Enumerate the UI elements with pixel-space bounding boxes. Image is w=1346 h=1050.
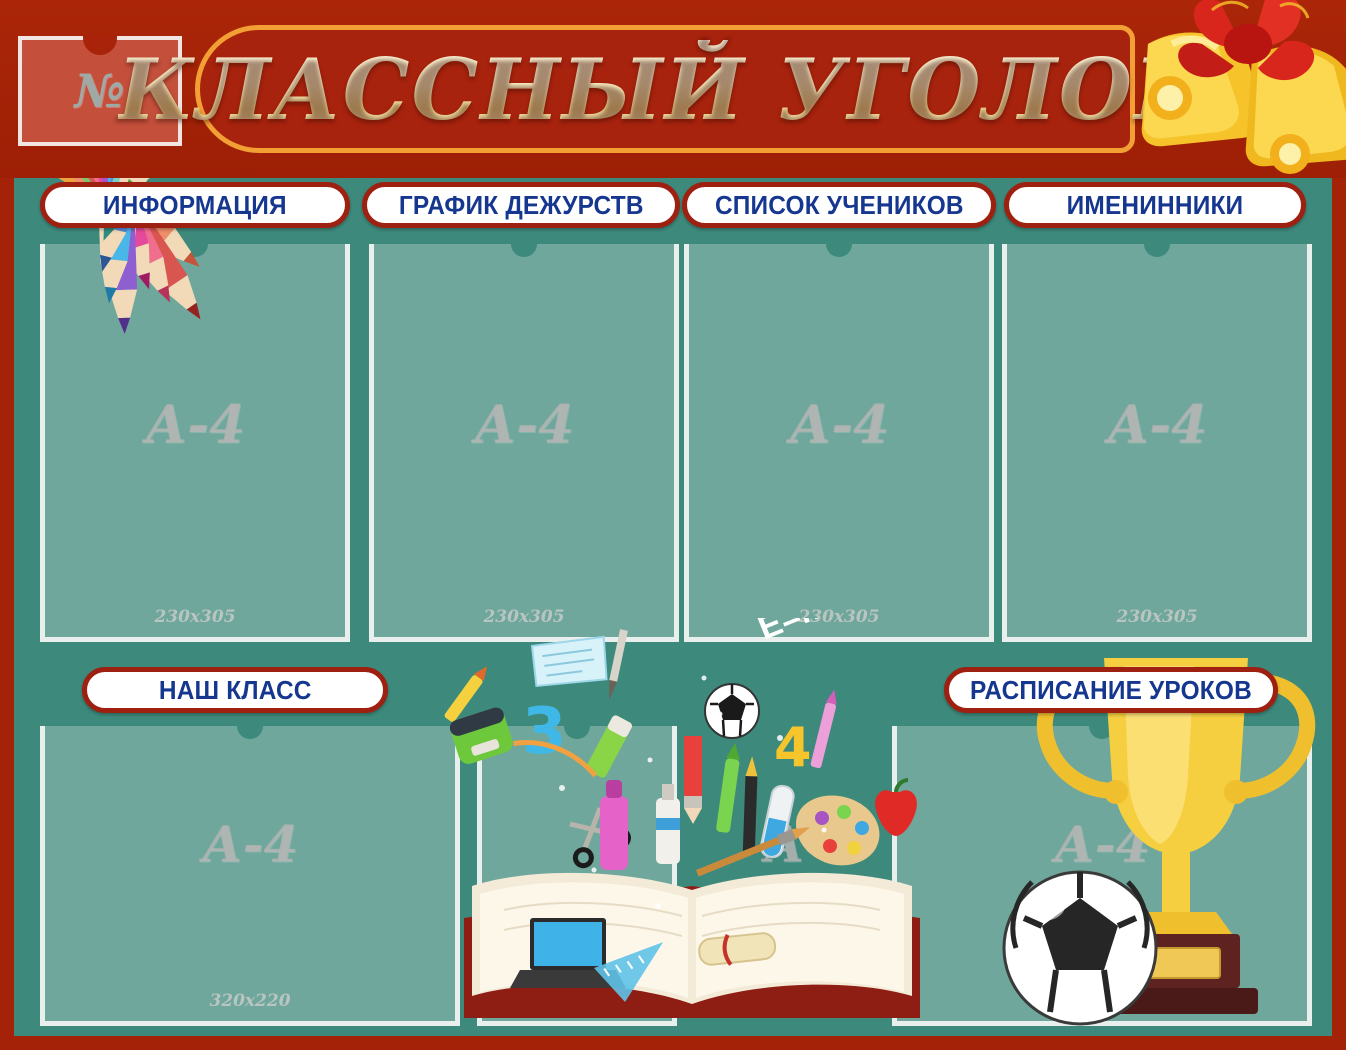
pocket-lesson-schedule[interactable]: А-4 320x220 xyxy=(892,726,1312,1026)
school-bell-icon xyxy=(1052,0,1346,178)
pocket-notch xyxy=(1144,244,1170,257)
pocket-notch xyxy=(564,726,590,739)
pocket-center[interactable]: А-4 320x220 xyxy=(477,726,677,1026)
pocket-notch xyxy=(237,726,263,739)
pocket-birthdays[interactable]: А-4 230x305 xyxy=(1002,244,1312,642)
label-birthdays-text: ИМЕНИННИКИ xyxy=(1067,190,1244,221)
paint-palette-icon xyxy=(796,796,880,866)
soccer-ball-small-icon xyxy=(705,684,759,738)
label-our-class[interactable]: НАШ КЛАСС xyxy=(82,667,388,713)
label-duty-schedule-text: ГРАФИК ДЕЖУРСТВ xyxy=(399,190,644,221)
pocket-format-label: А-4 xyxy=(689,394,989,455)
pocket-notch xyxy=(826,244,852,257)
paint-brush-icon xyxy=(695,822,812,878)
red-pencil-icon xyxy=(684,736,702,824)
classroom-corner-board: № КЛАССНЫЙ УГОЛОК xyxy=(0,0,1346,1050)
green-pen-icon xyxy=(716,742,742,833)
pocket-format-label: А-4 xyxy=(45,815,455,874)
pocket-dimensions: 230x305 xyxy=(45,607,345,627)
title-plate: КЛАССНЫЙ УГОЛОК xyxy=(195,25,1135,153)
pink-pen-icon xyxy=(810,688,840,768)
yellow-pen-icon xyxy=(444,663,492,723)
pocket-format-label: А-4 xyxy=(45,394,345,455)
label-student-list-text: СПИСОК УЧЕНИКОВ xyxy=(715,190,964,221)
pocket-information[interactable]: А-4 230x305 xyxy=(40,244,350,642)
pocket-notch xyxy=(1089,726,1115,739)
label-lesson-schedule[interactable]: РАСПИСАНИЕ УРОКОВ xyxy=(944,667,1278,713)
pocket-dimensions: 230x305 xyxy=(689,607,989,627)
pocket-format-label: А-4 xyxy=(1007,394,1307,455)
calligraphy-pen-icon xyxy=(743,756,758,854)
test-tube-icon xyxy=(759,784,795,859)
label-information[interactable]: ИНФОРМАЦИЯ xyxy=(40,182,350,228)
svg-text:4: 4 xyxy=(774,716,812,779)
pocket-dimensions: 320x220 xyxy=(897,991,1307,1011)
page-title: КЛАССНЫЙ УГОЛОК xyxy=(118,40,1213,139)
label-information-text: ИНФОРМАЦИЯ xyxy=(103,190,287,221)
pocket-notch xyxy=(182,244,208,257)
label-student-list[interactable]: СПИСОК УЧЕНИКОВ xyxy=(682,182,996,228)
pocket-format-label: А-4 xyxy=(374,394,674,455)
pocket-format-label: А-4 xyxy=(897,815,1307,874)
diploma-scroll-icon xyxy=(698,930,777,968)
pocket-dimensions: 230x305 xyxy=(374,607,674,627)
pocket-dimensions: 230x305 xyxy=(1007,607,1307,627)
board-panel: А-4 230x305 А-4 230x305 А-4 230x305 А-4 … xyxy=(14,178,1332,1036)
pocket-our-class[interactable]: А-4 320x220 xyxy=(40,726,460,1026)
label-our-class-text: НАШ КЛАСС xyxy=(159,675,312,706)
pocket-duty-schedule[interactable]: А-4 230x305 xyxy=(369,244,679,642)
label-lesson-schedule-text: РАСПИСАНИЕ УРОКОВ xyxy=(970,675,1252,706)
digit-four-icon: 4 xyxy=(774,716,812,779)
pocket-dimensions: 320x220 xyxy=(45,991,455,1011)
board-header: № КЛАССНЫЙ УГОЛОК xyxy=(0,0,1346,178)
label-birthdays[interactable]: ИМЕНИННИКИ xyxy=(1004,182,1306,228)
pocket-notch xyxy=(511,244,537,257)
pocket-student-list[interactable]: А-4 230x305 xyxy=(684,244,994,642)
label-duty-schedule[interactable]: ГРАФИК ДЕЖУРСТВ xyxy=(362,182,680,228)
